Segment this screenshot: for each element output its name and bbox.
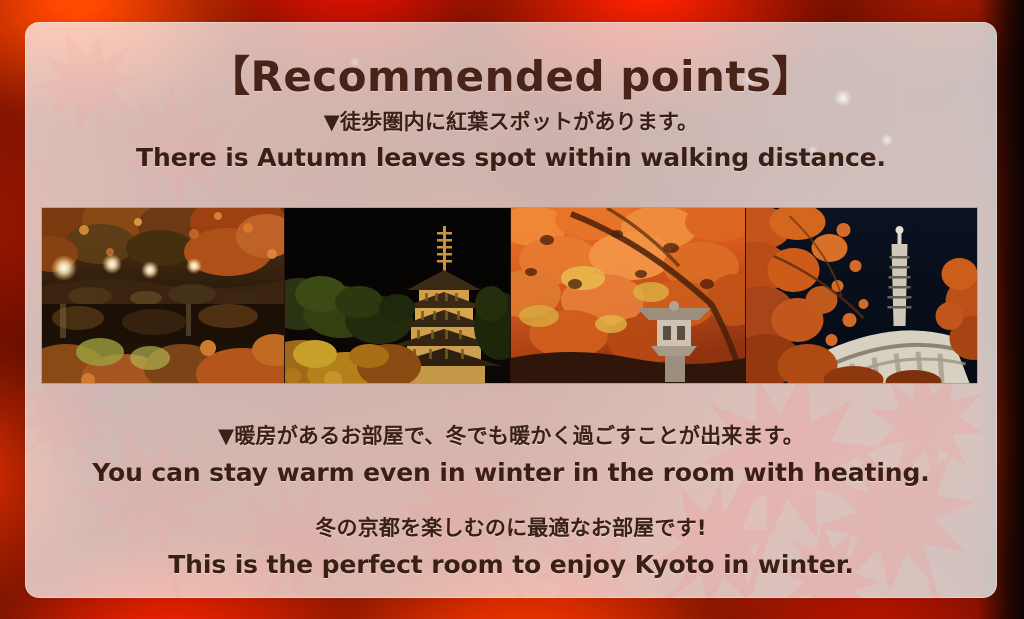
recommendation-3-english: This is the perfect room to enjoy Kyoto … [25,548,997,582]
recommendation-block-heating: ▼暖房があるお部屋で、冬でも暖かく過ごすことが出来ます。 You can sta… [25,422,997,490]
recommendation-1-english: There is Autumn leaves spot within walki… [25,141,997,175]
photo-strip [42,208,977,383]
recommendation-2-english: You can stay warm even in winter in the … [25,456,997,490]
illuminated-autumn-garden-pond-photo [42,208,284,383]
recommendation-block-walking-distance: ▼徒歩圏内に紅葉スポットがあります。 There is Autumn leave… [25,108,997,174]
recommendation-3-japanese: 冬の京都を楽しむのに最適なお部屋です! [25,514,997,542]
five-story-pagoda-night-illumination-photo [285,208,510,383]
red-maple-canopy-stone-lantern-photo [511,208,745,383]
card-content: 【Recommended points】 ▼徒歩圏内に紅葉スポットがあります。 … [25,22,997,598]
pagoda-spire-with-autumn-leaves-photo [746,208,977,383]
recommendation-1-japanese: ▼徒歩圏内に紅葉スポットがあります。 [25,108,997,136]
poster-stage: 【Recommended points】 ▼徒歩圏内に紅葉スポットがあります。 … [0,0,1024,619]
recommendation-2-japanese: ▼暖房があるお部屋で、冬でも暖かく過ごすことが出来ます。 [25,422,997,450]
information-card: 【Recommended points】 ▼徒歩圏内に紅葉スポットがあります。 … [25,22,997,598]
page-title: 【Recommended points】 [25,38,997,106]
recommendation-block-perfect-room: 冬の京都を楽しむのに最適なお部屋です! This is the perfect … [25,514,997,582]
